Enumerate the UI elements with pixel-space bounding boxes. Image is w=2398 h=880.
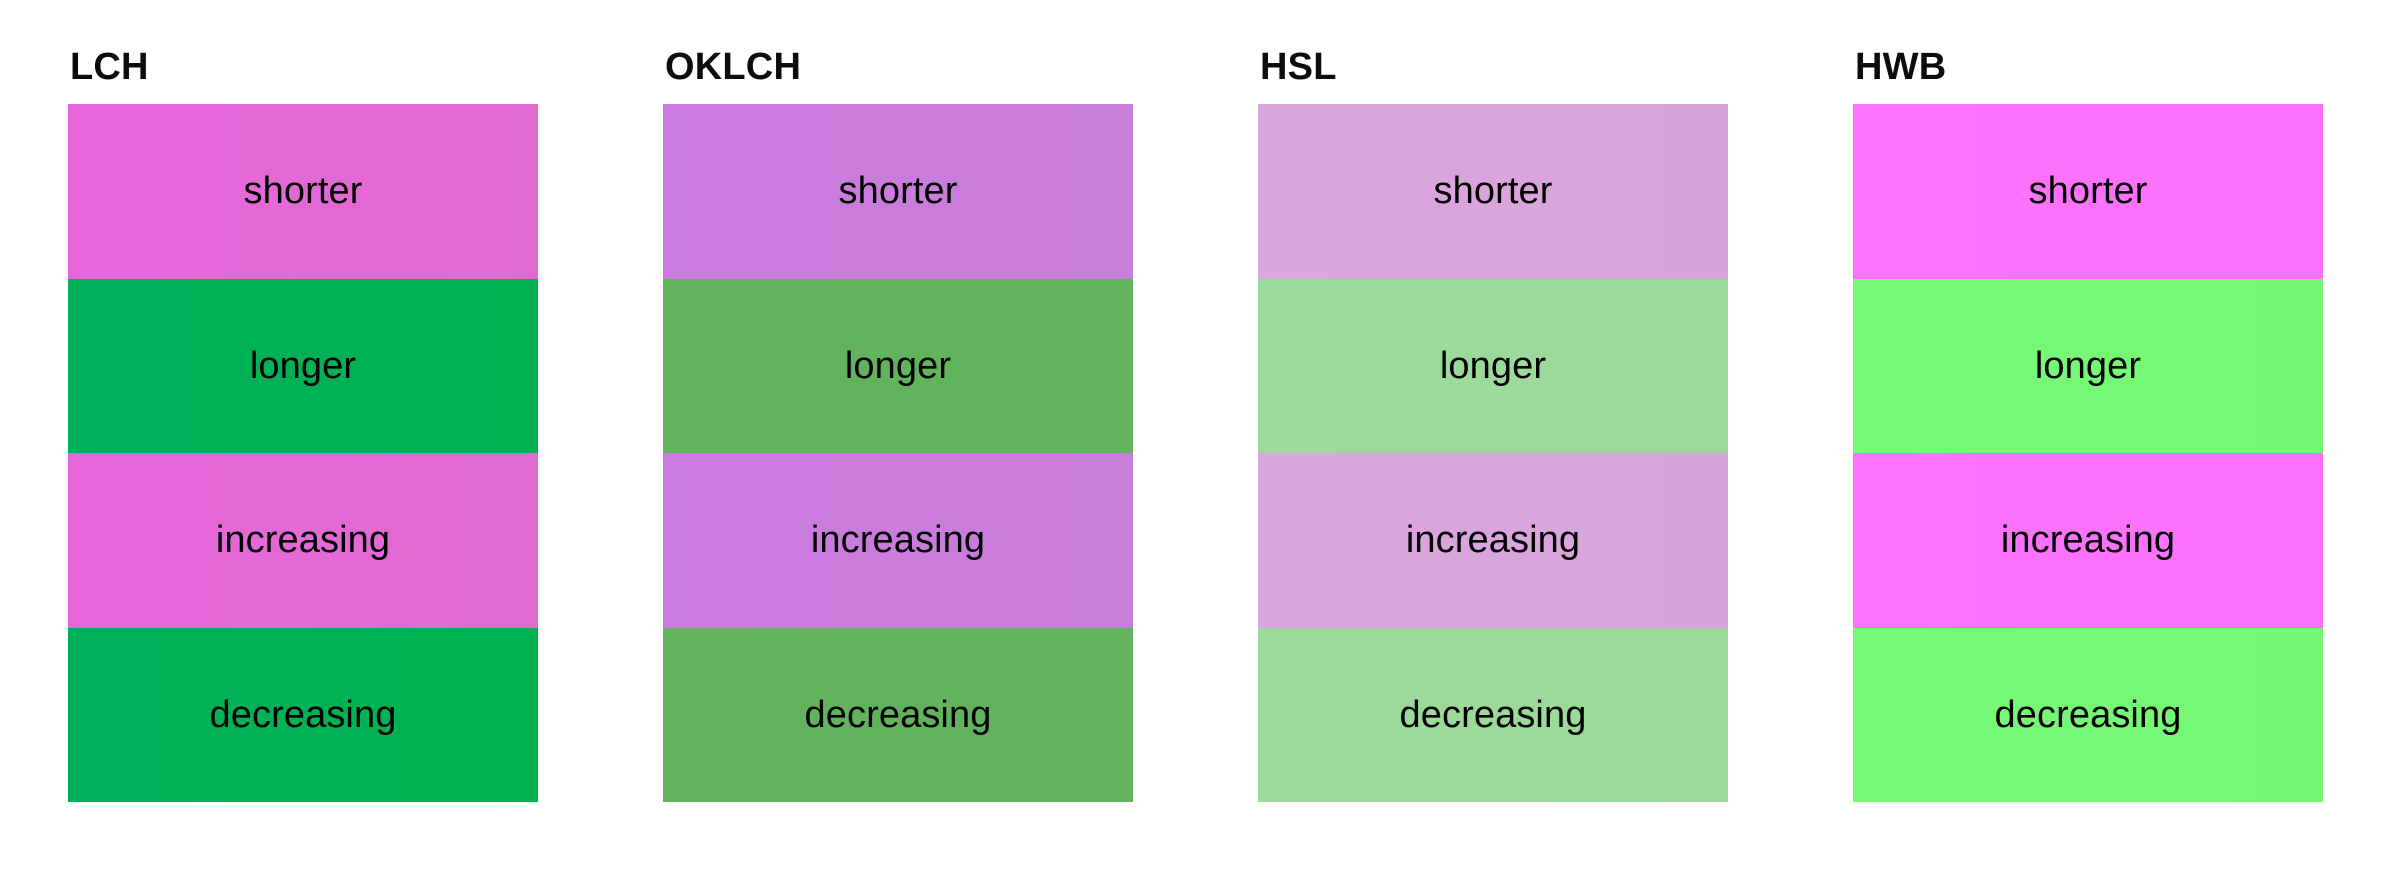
swatch-label: shorter xyxy=(2029,172,2148,210)
swatch-stack-oklch: shorter longer increasing decreasing xyxy=(663,104,1133,802)
swatch-label: longer xyxy=(1440,347,1546,385)
swatch-stack-hwb: shorter longer increasing decreasing xyxy=(1853,104,2323,802)
swatch-hwb-longer: longer xyxy=(1853,279,2323,454)
color-space-column-oklch: OKLCH shorter longer increasing decreasi… xyxy=(663,48,1133,802)
columns-container: LCH shorter longer increasing decreasing… xyxy=(0,48,2398,802)
swatch-label: shorter xyxy=(244,172,363,210)
swatch-label: decreasing xyxy=(1995,696,2182,734)
swatch-oklch-longer: longer xyxy=(663,279,1133,454)
swatch-label: decreasing xyxy=(210,696,397,734)
swatch-label: decreasing xyxy=(1400,696,1587,734)
swatch-label: increasing xyxy=(811,521,985,559)
swatch-stack-lch: shorter longer increasing decreasing xyxy=(68,104,538,802)
column-title-hsl: HSL xyxy=(1260,48,1728,86)
swatch-stack-hsl: shorter longer increasing decreasing xyxy=(1258,104,1728,802)
swatch-hsl-longer: longer xyxy=(1258,279,1728,454)
swatch-label: shorter xyxy=(1434,172,1553,210)
swatch-label: longer xyxy=(845,347,951,385)
swatch-label: shorter xyxy=(839,172,958,210)
color-space-column-hsl: HSL shorter longer increasing decreasing xyxy=(1258,48,1728,802)
swatch-label: increasing xyxy=(216,521,390,559)
swatch-label: longer xyxy=(2035,347,2141,385)
column-title-oklch: OKLCH xyxy=(665,48,1133,86)
swatch-lch-shorter: shorter xyxy=(68,104,538,279)
swatch-label: increasing xyxy=(2001,521,2175,559)
swatch-oklch-decreasing: decreasing xyxy=(663,628,1133,803)
swatch-hsl-increasing: increasing xyxy=(1258,453,1728,628)
column-title-lch: LCH xyxy=(70,48,538,86)
swatch-hsl-decreasing: decreasing xyxy=(1258,628,1728,803)
swatch-label: longer xyxy=(250,347,356,385)
swatch-oklch-shorter: shorter xyxy=(663,104,1133,279)
swatch-lch-decreasing: decreasing xyxy=(68,628,538,803)
swatch-label: increasing xyxy=(1406,521,1580,559)
swatch-hsl-shorter: shorter xyxy=(1258,104,1728,279)
color-interpolation-board: LCH shorter longer increasing decreasing… xyxy=(0,0,2398,880)
swatch-label: decreasing xyxy=(805,696,992,734)
swatch-hwb-increasing: increasing xyxy=(1853,453,2323,628)
swatch-lch-increasing: increasing xyxy=(68,453,538,628)
swatch-hwb-decreasing: decreasing xyxy=(1853,628,2323,803)
color-space-column-lch: LCH shorter longer increasing decreasing xyxy=(68,48,538,802)
color-space-column-hwb: HWB shorter longer increasing decreasing xyxy=(1853,48,2323,802)
column-title-hwb: HWB xyxy=(1855,48,2323,86)
swatch-hwb-shorter: shorter xyxy=(1853,104,2323,279)
swatch-lch-longer: longer xyxy=(68,279,538,454)
swatch-oklch-increasing: increasing xyxy=(663,453,1133,628)
